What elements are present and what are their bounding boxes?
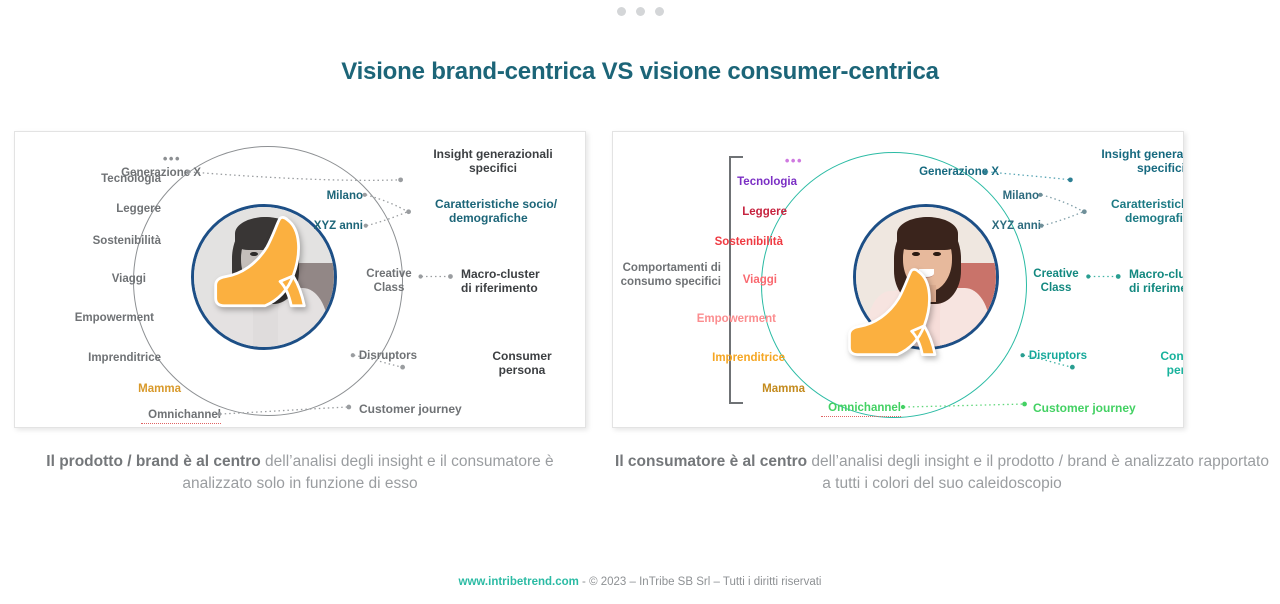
inner-label-disruptors: Disruptors <box>1013 350 1087 364</box>
inner-label-creative-class: Creative Class <box>361 268 417 295</box>
attribute-label-imprenditrice: Imprenditrice <box>31 352 161 366</box>
callout-line-1: Caratteristiche socio/ <box>1111 197 1184 211</box>
attribute-label-omnichannel: Omnichannel <box>141 409 221 424</box>
caption-brand-centric: Il prodotto / brand è al centro dell’ana… <box>14 451 586 495</box>
callout-customer-journey: Customer journey <box>1033 402 1184 416</box>
attribute-label-empowerment: Empowerment <box>21 312 154 326</box>
slide-pagination-dots <box>0 0 1280 22</box>
callout-insight-generazionali: Insight generazionali specifici <box>1081 148 1184 175</box>
callout-line-2: di riferimento <box>1129 281 1184 295</box>
callout-caratteristiche-socio-demografiche: Caratteristiche socio/ demografiche <box>435 198 585 225</box>
callout-macro-cluster: Macro-cluster di riferimento <box>1129 268 1184 295</box>
callout-line-1: Insight generazionali <box>433 147 552 161</box>
callout-consumer-persona: Consumer persona <box>467 350 577 377</box>
callout-line-2: specifici <box>1137 161 1184 175</box>
callout-line-1: Macro-cluster <box>461 267 540 281</box>
caption-rest-part: dell’analisi degli insight e il prodotto… <box>807 453 1269 492</box>
footer: www.intribetrend.com - © 2023 – InTribe … <box>0 576 1280 588</box>
inner-label-milano: Milano <box>991 190 1039 204</box>
callout-line-2: demografiche <box>449 212 528 226</box>
callout-customer-journey: Customer journey <box>359 403 509 417</box>
attribute-label-mamma: Mamma <box>705 383 805 397</box>
callout-consumer-persona: Consumer persona <box>1135 350 1184 377</box>
attribute-label-sostenibilita: Sostenibilità <box>653 236 783 250</box>
pagination-dot <box>655 7 664 16</box>
ellipsis-marker: ••• <box>135 152 181 166</box>
ellipsis-marker: ••• <box>757 154 803 168</box>
pagination-dot <box>636 7 645 16</box>
attribute-label-tecnologia: Tecnologia <box>51 173 161 187</box>
caption-bold-part: Il prodotto / brand è al centro <box>46 453 260 470</box>
consumer-centric-panel: Comportamenti di consumo specifici ••• G… <box>612 131 1184 428</box>
attribute-label-sostenibilita: Sostenibilità <box>31 235 161 249</box>
footer-website-link[interactable]: www.intribetrend.com <box>459 576 579 588</box>
callout-line-1: Consumer <box>1160 349 1184 363</box>
attribute-label-empowerment: Empowerment <box>643 313 776 327</box>
inner-label-xyz-anni: XYZ anni <box>981 220 1041 234</box>
attribute-label-viaggi: Viaggi <box>31 273 146 287</box>
callout-line-2: persona <box>1167 363 1184 377</box>
attribute-label-leggere: Leggere <box>669 206 787 220</box>
callout-line-2: di riferimento <box>461 281 538 295</box>
callout-line-2: specifici <box>469 161 517 175</box>
callout-line-1: Macro-cluster <box>1129 267 1184 281</box>
attribute-label-mamma: Mamma <box>81 383 181 397</box>
callout-line-2: persona <box>499 363 546 377</box>
callout-caratteristiche-socio-demografiche: Caratteristiche socio/ demografiche <box>1111 198 1184 225</box>
brand-centric-panel: ••• Generazione X Tecnologia Leggere Sos… <box>14 131 586 428</box>
pagination-dot <box>617 7 626 16</box>
attribute-label-viaggi: Viaggi <box>663 274 777 288</box>
page-title: Visione brand-centrica VS visione consum… <box>0 58 1280 86</box>
attribute-label-omnichannel: Omnichannel <box>821 402 901 417</box>
inner-label-disruptors: Disruptors <box>343 350 417 364</box>
attribute-label-tecnologia: Tecnologia <box>673 176 797 190</box>
inner-label-creative-class: Creative Class <box>1027 268 1085 295</box>
callout-insight-generazionali: Insight generazionali specifici <box>415 148 571 175</box>
bracket-label-line-1: Comportamenti di <box>623 262 721 274</box>
callout-macro-cluster: Macro-cluster di riferimento <box>461 268 581 295</box>
callout-line-1: Consumer <box>492 349 551 363</box>
inner-label-milano: Milano <box>315 190 363 204</box>
inner-label-xyz-anni: XYZ anni <box>303 220 363 234</box>
attribute-label-leggere: Leggere <box>41 203 161 217</box>
caption-consumer-centric: Il consumatore è al centro dell’analisi … <box>612 451 1272 495</box>
callout-line-2: demografiche <box>1125 212 1184 226</box>
callout-line-1: Caratteristiche socio/ <box>435 197 557 211</box>
caption-bold-part: Il consumatore è al centro <box>615 453 807 470</box>
attribute-label-generazione-x: Generazione X <box>879 166 999 180</box>
footer-copyright: - © 2023 – InTribe SB Srl – Tutti i diri… <box>579 576 822 588</box>
high-heel-shoe-icon <box>845 268 953 380</box>
attribute-label-imprenditrice: Imprenditrice <box>655 352 785 366</box>
callout-line-1: Insight generazionali <box>1101 147 1184 161</box>
